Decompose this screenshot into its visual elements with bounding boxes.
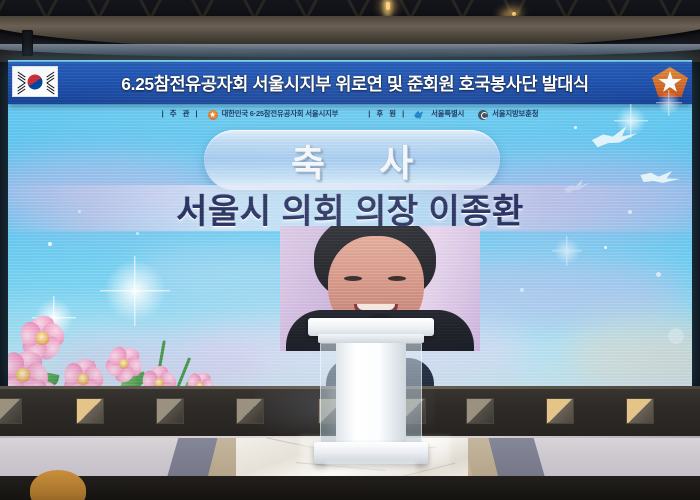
projection-eye bbox=[344, 276, 362, 281]
sparkle-ray bbox=[668, 90, 669, 116]
sparkle-star bbox=[100, 256, 170, 326]
sparkle-ray bbox=[630, 104, 631, 138]
lectern bbox=[308, 318, 434, 464]
sparkle-dot bbox=[604, 246, 607, 249]
sparkle-ray bbox=[566, 236, 567, 266]
stage-accent-light bbox=[546, 398, 574, 424]
support-2-name: 서울지방보훈청 bbox=[492, 108, 538, 119]
event-banner: 6.25참전유공자회 서울시지부 위로연 및 준회원 호국봉사단 발대식 bbox=[8, 62, 692, 104]
flower-center bbox=[77, 373, 89, 385]
stage-valance-lip bbox=[0, 44, 700, 58]
seoul-city-logo-icon bbox=[414, 110, 427, 120]
sparkle-dot bbox=[48, 242, 52, 246]
foreground-dark-band bbox=[0, 476, 700, 500]
sparkle-star bbox=[552, 236, 582, 266]
ceiling-speaker-box bbox=[22, 30, 33, 56]
host-label: | 주 관 | bbox=[162, 108, 200, 119]
program-segment-title: 축 사 bbox=[269, 133, 435, 187]
projection-eye bbox=[388, 276, 406, 281]
sparkle-star bbox=[614, 104, 648, 138]
event-title: 6.25참전유공자회 서울시지부 위로연 및 준회원 호국봉사단 발대식 bbox=[60, 62, 650, 104]
support-1-name: 서울특별시 bbox=[431, 108, 464, 119]
ceiling-lamp bbox=[386, 2, 390, 10]
sparkle-dot bbox=[520, 288, 524, 292]
stage-accent-light bbox=[626, 398, 654, 424]
speaker-title: 서울시 의회 의장 이종환 bbox=[8, 185, 692, 231]
stage-accent-light bbox=[76, 398, 104, 424]
lectern-column bbox=[336, 343, 406, 443]
rose-of-sharon-flower bbox=[60, 356, 106, 390]
lectern-shelf bbox=[318, 334, 424, 343]
veterans-star-icon bbox=[208, 110, 218, 120]
sponsor-line: | 주 관 | 대한민국 6·25참전유공자회 서울시지부 | 후 원 | 서울… bbox=[8, 105, 692, 122]
sparkle-star bbox=[656, 90, 682, 116]
south-korea-flag-icon bbox=[12, 66, 58, 97]
sparkle-dot bbox=[668, 328, 684, 344]
stage-accent-light bbox=[0, 398, 22, 424]
sparkle-dot bbox=[136, 232, 139, 235]
seoul-veterans-office-icon bbox=[478, 110, 488, 120]
taegeuk-symbol bbox=[25, 71, 46, 92]
host-name: 대한민국 6·25참전유공자회 서울시지부 bbox=[222, 108, 339, 119]
rose-of-sharon-flower bbox=[104, 344, 144, 384]
stage-accent-light bbox=[236, 398, 264, 424]
ceiling-truss-area bbox=[0, 0, 700, 62]
support-label: | 후 원 | bbox=[368, 108, 406, 119]
program-segment-pill: 축 사 bbox=[204, 130, 500, 190]
sparkle-dot bbox=[574, 126, 577, 129]
auditorium-stage-photo: 6.25참전유공자회 서울시지부 위로연 및 준회원 호국봉사단 발대식 | 주… bbox=[0, 0, 700, 500]
stage-accent-light bbox=[156, 398, 184, 424]
sparkle-ray bbox=[134, 256, 135, 326]
lectern-base bbox=[314, 442, 428, 464]
flower-center bbox=[35, 331, 49, 345]
stage-accent-light bbox=[466, 398, 494, 424]
sparkle-dot bbox=[656, 272, 661, 277]
